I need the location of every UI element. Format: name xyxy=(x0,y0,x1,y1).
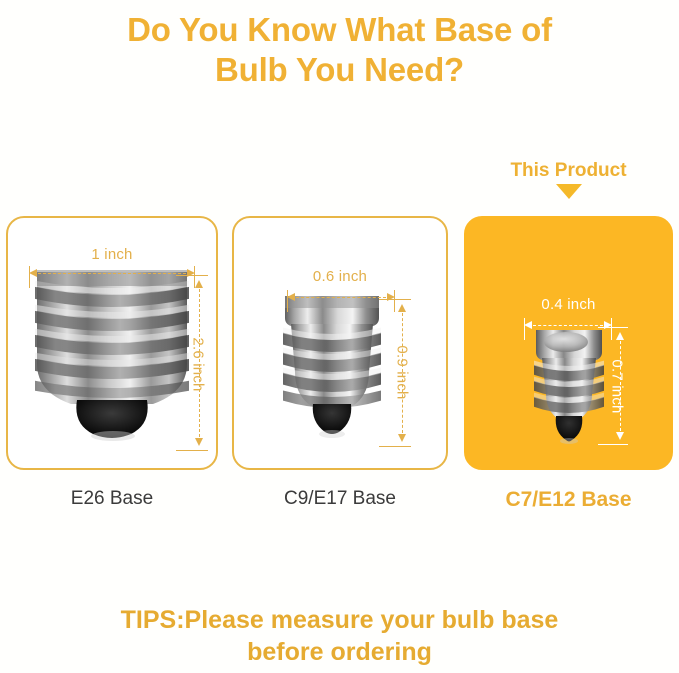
bulb-base-c7-e12-icon xyxy=(526,328,612,450)
dimension-height-label-c7-e12: 0.7 inch xyxy=(609,358,626,416)
dimension-dash-line xyxy=(38,273,186,274)
arrow-left-icon xyxy=(524,321,532,329)
this-product-callout: This Product xyxy=(464,160,673,199)
dimension-width-arrow-c9-e17 xyxy=(287,292,395,302)
bulb-base-comparison-row: 1 inch 2.6 inch xyxy=(0,216,679,472)
base-label-c7-e12: C7/E12 Base xyxy=(464,488,673,512)
arrow-left-icon xyxy=(29,269,37,277)
arrow-left-icon xyxy=(287,293,295,301)
bulb-card-c9-e17[interactable]: 0.6 inch 0.9 inch xyxy=(232,216,448,470)
dimension-tick-bottom-c9-e17 xyxy=(379,446,411,447)
dimension-width-label-c9-e17: 0.6 inch xyxy=(234,268,446,285)
bulb-card-c7-e12[interactable]: 0.4 inch 0.7 inch xyxy=(464,216,673,470)
bulb-base-c9-e17-icon xyxy=(273,294,391,444)
triangle-down-icon xyxy=(556,184,582,199)
arrow-down-icon xyxy=(398,434,406,446)
dimension-tick-bottom-c7-e12 xyxy=(598,444,628,445)
bulb-card-e26[interactable]: 1 inch 2.6 inch xyxy=(6,216,218,470)
arrow-up-icon xyxy=(398,300,406,312)
dimension-width-label-e26: 1 inch xyxy=(8,246,216,263)
tips-line-2: before ordering xyxy=(0,636,679,668)
page-title-line-2: Bulb You Need? xyxy=(0,50,679,90)
page-title: Do You Know What Base of Bulb You Need? xyxy=(0,10,679,90)
dimension-width-arrow-c7-e12 xyxy=(524,320,612,330)
dimension-height-label-c9-e17: 0.9 inch xyxy=(394,341,411,405)
tips-text: TIPS:Please measure your bulb base befor… xyxy=(0,604,679,668)
dimension-width-label-c7-e12: 0.4 inch xyxy=(466,296,671,313)
dimension-tick-bottom-e26 xyxy=(176,450,208,451)
arrow-up-icon xyxy=(616,328,624,340)
tips-line-1: TIPS:Please measure your bulb base xyxy=(0,604,679,636)
this-product-label: This Product xyxy=(464,160,673,182)
base-label-c9-e17: C9/E17 Base xyxy=(232,488,448,510)
base-label-e26: E26 Base xyxy=(6,488,218,510)
bulb-base-e26-icon xyxy=(27,268,197,448)
arrow-down-icon xyxy=(616,432,624,444)
dimension-height-label-e26: 2.6 inch xyxy=(190,333,207,397)
page-title-line-1: Do You Know What Base of xyxy=(0,10,679,50)
arrow-down-icon xyxy=(195,438,203,450)
arrow-up-icon xyxy=(195,276,203,288)
dimension-dash-line xyxy=(533,325,603,326)
dimension-dash-line xyxy=(296,297,386,298)
dimension-width-arrow-e26 xyxy=(29,268,195,278)
